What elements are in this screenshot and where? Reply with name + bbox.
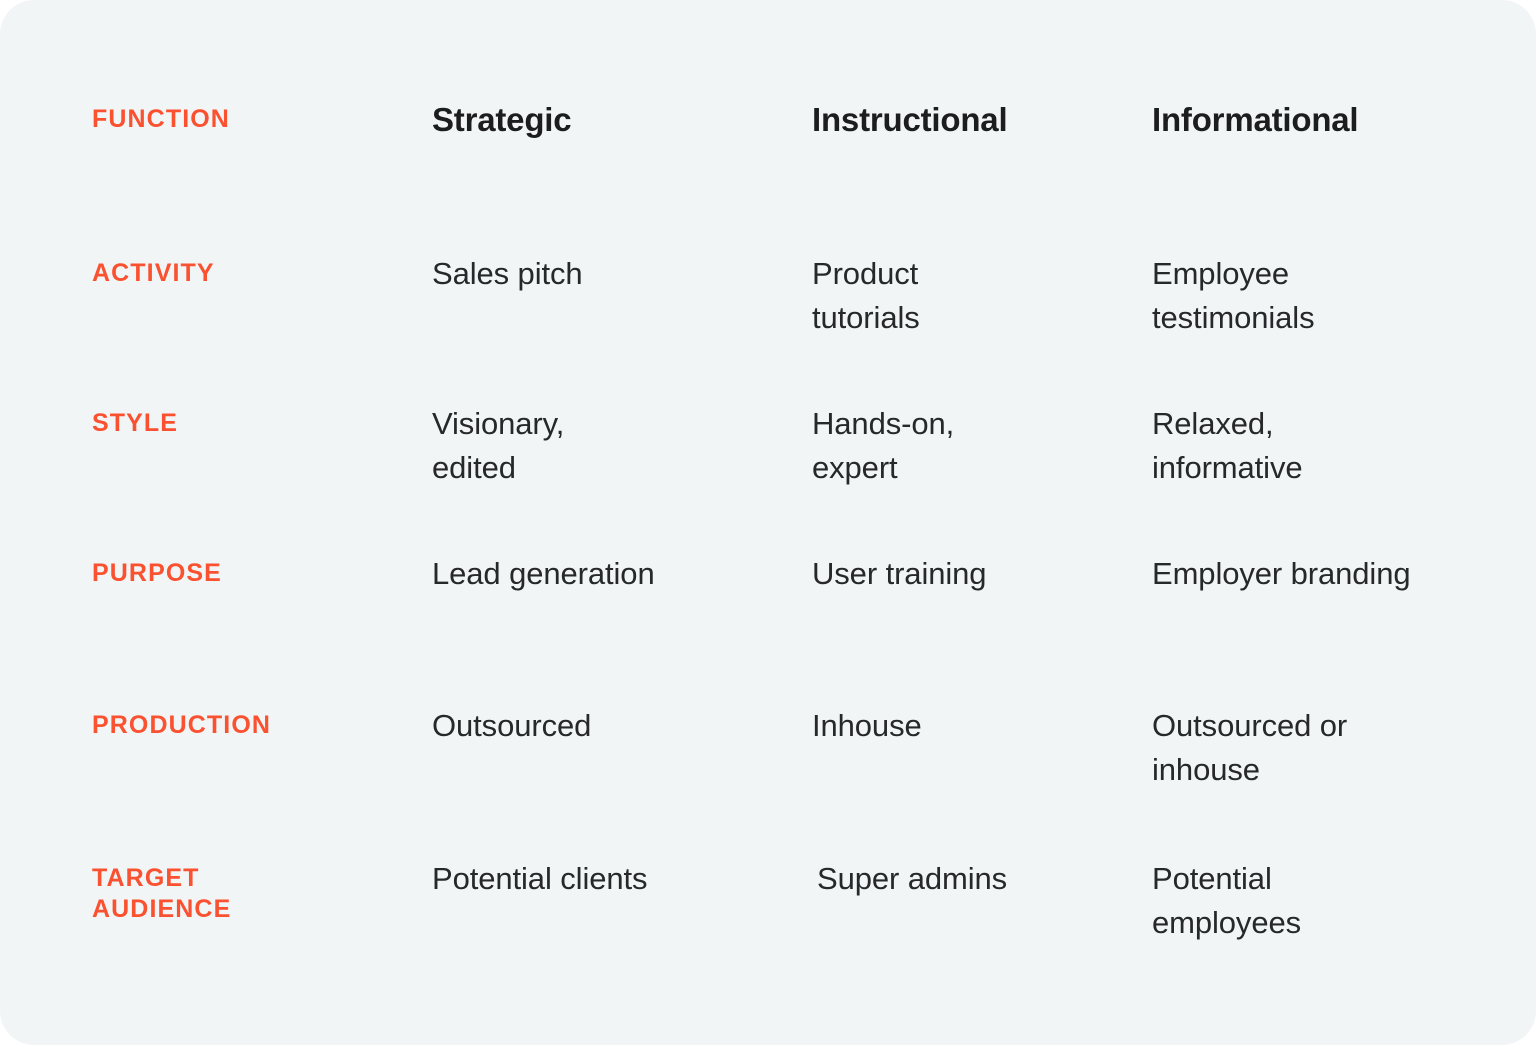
cell-purpose-instructional: User training	[812, 552, 1142, 596]
cell-activity-informational: Employee testimonials	[1152, 252, 1512, 340]
comparison-table-card: Function Strategic Instructional Informa…	[0, 0, 1536, 1045]
column-header-instructional: Instructional	[812, 100, 1142, 140]
row-label-purpose: Purpose	[92, 558, 412, 589]
cell-production-strategic: Outsourced	[432, 704, 800, 748]
cell-production-informational: Outsourced or inhouse	[1152, 704, 1512, 792]
cell-purpose-informational: Employer branding	[1152, 552, 1512, 596]
column-header-informational: Informational	[1152, 100, 1512, 140]
cell-style-strategic: Visionary, edited	[432, 402, 800, 490]
cell-target-audience-instructional: Super admins	[817, 857, 1147, 901]
header-label-function: Function	[92, 104, 412, 135]
row-label-production: Production	[92, 710, 412, 741]
cell-target-audience-informational: Potential employees	[1152, 857, 1512, 945]
column-header-strategic: Strategic	[432, 100, 800, 140]
cell-style-informational: Relaxed, informative	[1152, 402, 1512, 490]
cell-activity-strategic: Sales pitch	[432, 252, 800, 296]
cell-target-audience-strategic: Potential clients	[432, 857, 800, 901]
cell-activity-instructional: Product tutorials	[812, 252, 1142, 340]
video-function-comparison-table: Function Strategic Instructional Informa…	[0, 0, 1536, 1045]
cell-production-instructional: Inhouse	[812, 704, 1142, 748]
cell-style-instructional: Hands-on, expert	[812, 402, 1142, 490]
row-label-style: Style	[92, 408, 412, 439]
cell-purpose-strategic: Lead generation	[432, 552, 800, 596]
row-label-activity: Activity	[92, 258, 412, 289]
row-label-target-audience: Target Audience	[92, 863, 412, 925]
